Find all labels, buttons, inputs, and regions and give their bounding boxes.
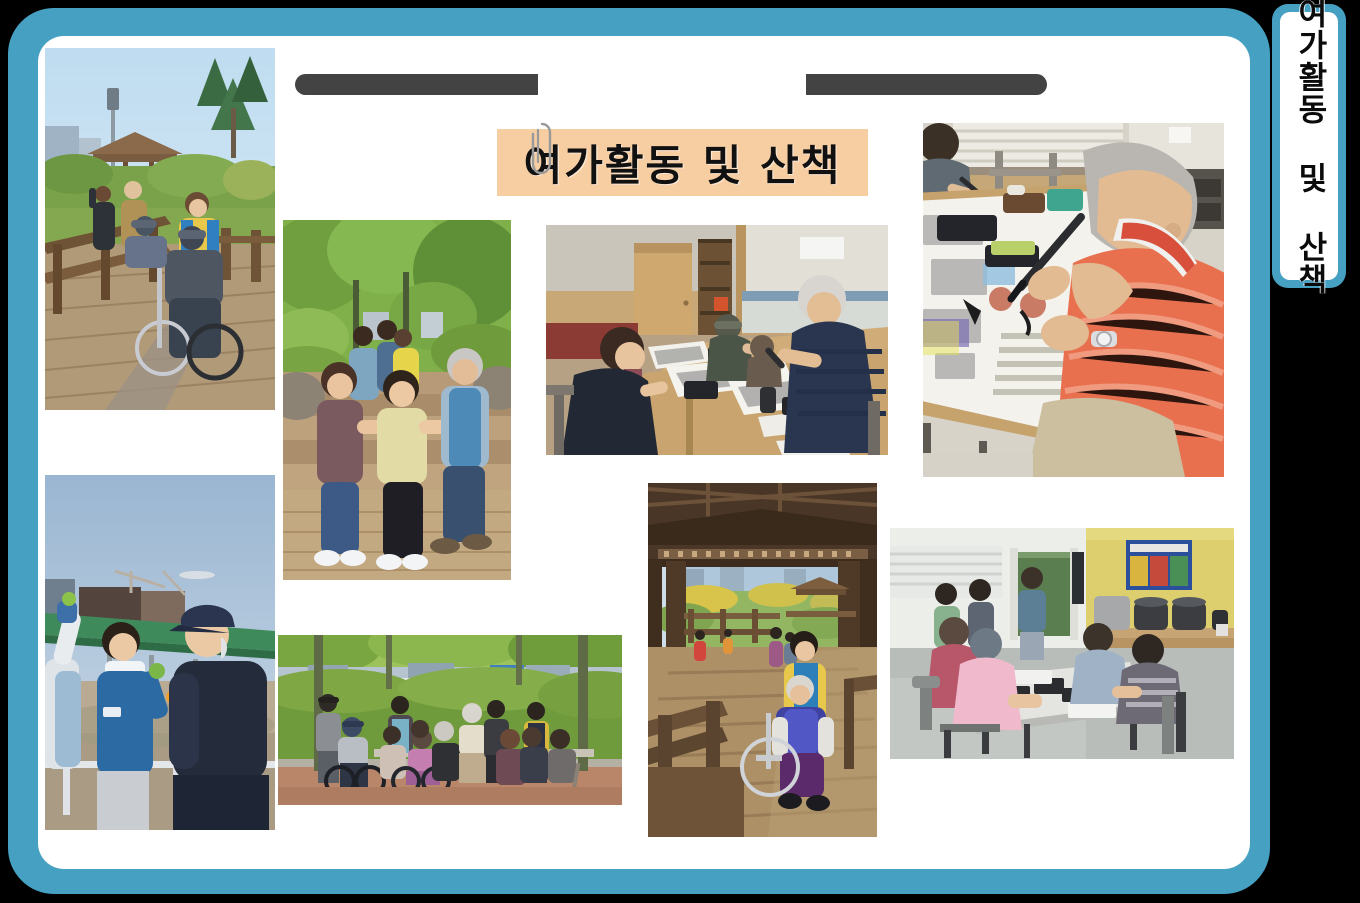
side-tab[interactable]: 여가활동 및 산책 (1272, 4, 1346, 288)
photo-park-walk-wheelchair (45, 48, 275, 410)
photo-stairs-walk (283, 220, 511, 580)
decor-bar-left (295, 74, 538, 95)
decor-bar-right (806, 74, 1047, 95)
photo-group-outdoor (278, 635, 622, 805)
side-tab-label: 여가활동 및 산책 (1293, 0, 1326, 295)
title-plate: 여가활동 및 산책 (497, 129, 868, 196)
photo-pavilion-wheelchair (648, 483, 877, 837)
photo-riverside-talk (45, 475, 275, 830)
slide-canvas: 여가활동 및 산책 (0, 0, 1360, 903)
photo-activity-room (890, 528, 1234, 759)
side-tab-panel: 여가활동 및 산책 (1280, 12, 1338, 280)
page-title: 여가활동 및 산책 (524, 132, 842, 193)
photo-calligraphy-closeup (923, 123, 1224, 477)
photo-calligraphy-room (546, 225, 888, 455)
